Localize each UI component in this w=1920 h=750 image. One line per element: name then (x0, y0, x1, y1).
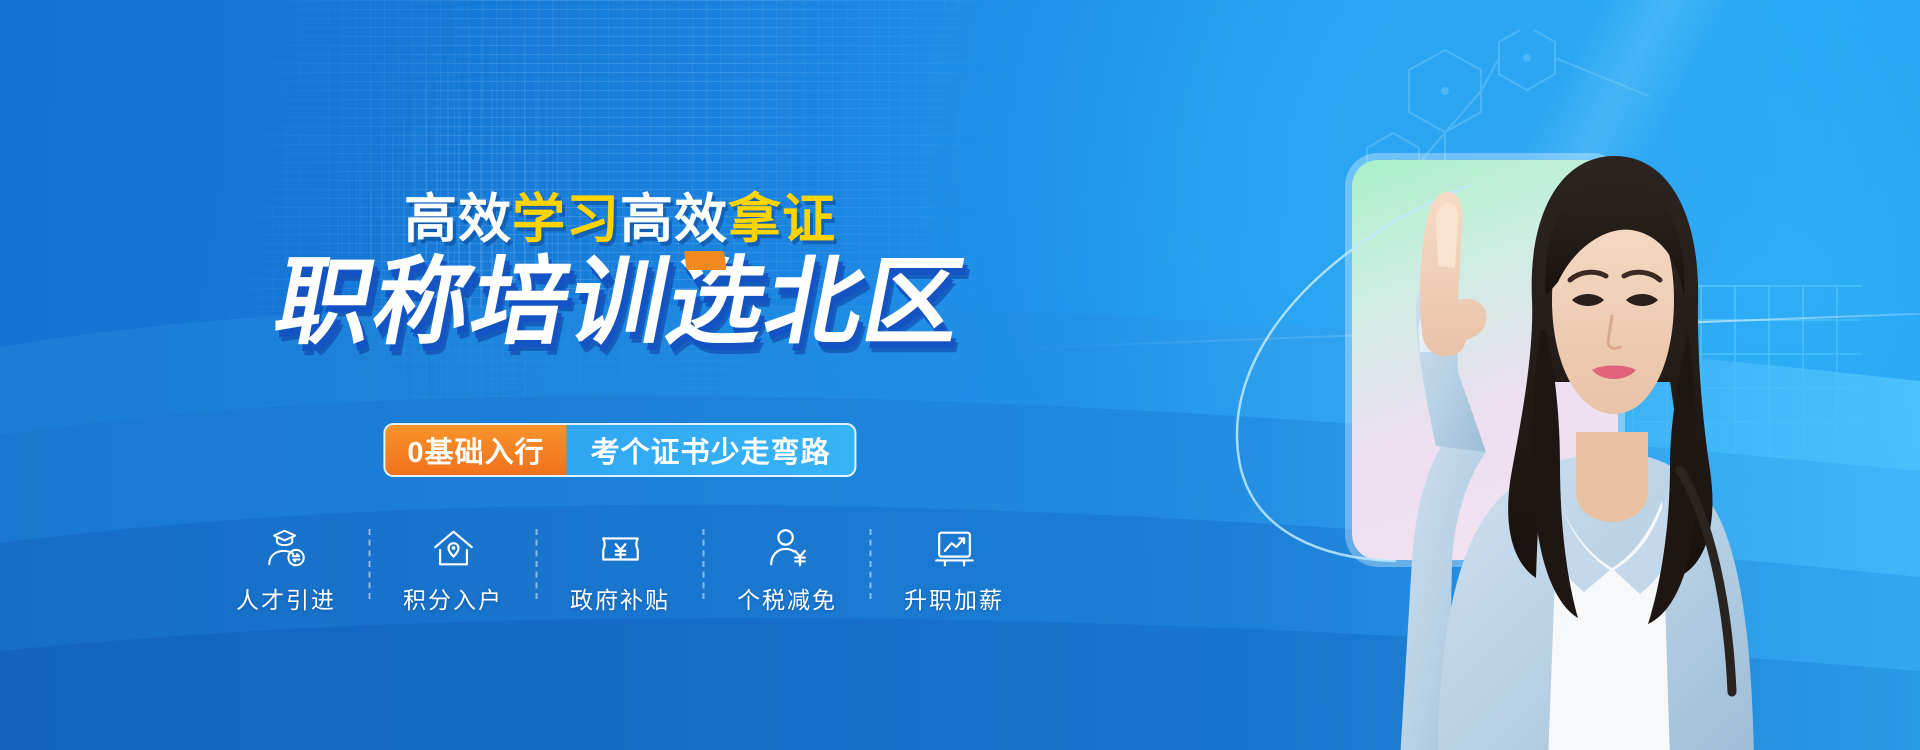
feature-label: 个税减免 (737, 581, 837, 615)
graduate-person-icon (263, 525, 309, 571)
headline-char: 称 (366, 255, 483, 351)
headline-char: 北 (758, 255, 875, 351)
subhead-segment-1: 高效 (404, 190, 512, 249)
feature-list: 人才引进 积分入户 (204, 525, 1037, 615)
headline-char: 职 (268, 255, 385, 351)
headline-char: 训 (562, 255, 679, 351)
feature-label: 积分入户 (403, 581, 503, 615)
hero-figure (1240, 0, 1800, 750)
sub-headline: 高效学习高效拿证 (0, 193, 1240, 246)
feature-item-points-residency[interactable]: 积分入户 (371, 525, 536, 615)
headline-char-accented: 选 (660, 255, 777, 351)
promo-banner: 高效学习高效拿证 职称培训选北区 0基础入行 考个证书少走弯路 (0, 0, 1920, 750)
ticket-yen-icon (597, 525, 643, 571)
feature-item-government-subsidy[interactable]: 政府补贴 (538, 525, 703, 615)
feature-item-promotion-raise[interactable]: 升职加薪 (872, 525, 1037, 615)
subhead-segment-4: 拿证 (728, 190, 836, 249)
subhead-segment-3: 高效 (620, 190, 728, 249)
feature-label: 升职加薪 (904, 581, 1004, 615)
feature-item-tax-reduction[interactable]: 个税减免 (705, 525, 870, 615)
feature-label: 人才引进 (236, 581, 336, 615)
banner-content: 高效学习高效拿证 职称培训选北区 0基础入行 考个证书少走弯路 (0, 0, 1240, 750)
feature-label: 政府补贴 (570, 581, 670, 615)
badge-primary-label: 0基础入行 (385, 425, 566, 475)
pointing-woman-photo (1240, 0, 1800, 750)
subhead-segment-2: 学习 (512, 190, 620, 249)
tagline-badge[interactable]: 0基础入行 考个证书少走弯路 (383, 423, 856, 477)
main-headline: 职称培训选北区 (0, 255, 1240, 351)
badge-secondary-label: 考个证书少走弯路 (567, 425, 855, 475)
headline-char: 区 (856, 255, 973, 351)
person-yen-icon (764, 525, 810, 571)
feature-item-talent-introduction[interactable]: 人才引进 (204, 525, 369, 615)
house-pin-icon (430, 525, 476, 571)
chart-rise-icon (931, 525, 977, 571)
headline-char: 培 (464, 255, 581, 351)
